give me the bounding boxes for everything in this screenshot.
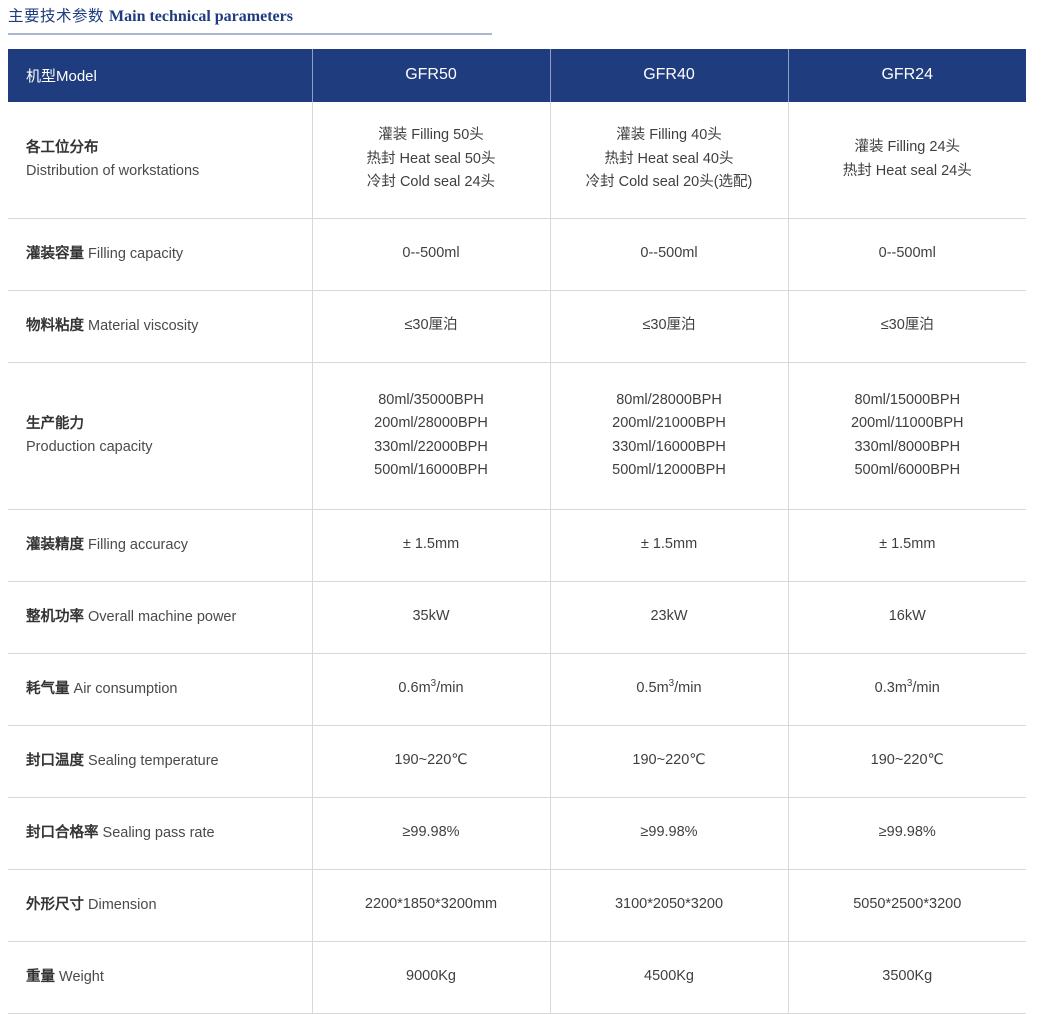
row-label-cn: 灌装精度 xyxy=(26,537,84,553)
table-cell: ≥99.98% xyxy=(550,797,788,869)
cell-line: 330ml/16000BPH xyxy=(561,436,778,459)
table-cell: 灌装 Filling 50头热封 Heat seal 50头冷封 Cold se… xyxy=(312,102,550,219)
cell-line: ≥99.98% xyxy=(323,821,540,844)
cell-line: 200ml/21000BPH xyxy=(561,412,778,435)
table-cell: ± 1.5mm xyxy=(312,509,550,581)
cell-line: 冷封 Cold seal 24头 xyxy=(323,171,540,194)
cell-line: 80ml/35000BPH xyxy=(323,389,540,412)
table-cell: 5050*2500*3200 xyxy=(788,869,1026,941)
cell-line: 3100*2050*3200 xyxy=(561,893,778,916)
column-header-gfr40: GFR40 xyxy=(550,49,788,102)
cell-line: 4500Kg xyxy=(561,965,778,988)
table-cell: 9000Kg xyxy=(312,941,550,1013)
table-cell: 190~220℃ xyxy=(312,725,550,797)
cell-line: 9000Kg xyxy=(323,965,540,988)
table-cell: 0.5m3/min xyxy=(550,653,788,725)
table-cell: 0--500ml xyxy=(788,218,1026,290)
column-header-gfr50: GFR50 xyxy=(312,49,550,102)
row-label: 外形尺寸 Dimension xyxy=(8,869,312,941)
cell-line: 灌装 Filling 24头 xyxy=(799,136,1017,159)
table-row: 生产能力Production capacity80ml/35000BPH200m… xyxy=(8,362,1026,509)
table-cell: 3100*2050*3200 xyxy=(550,869,788,941)
row-label-cn: 生产能力 xyxy=(26,413,294,435)
row-label: 灌装容量 Filling capacity xyxy=(8,218,312,290)
row-label-cn: 灌装容量 xyxy=(26,246,84,262)
column-header-model-label: 机型Model xyxy=(8,49,312,102)
table-cell: ≤30厘泊 xyxy=(312,290,550,362)
cell-line: 330ml/22000BPH xyxy=(323,436,540,459)
cell-line: 190~220℃ xyxy=(561,749,778,772)
row-label-en: Sealing pass rate xyxy=(99,825,215,841)
cell-line: 190~220℃ xyxy=(799,749,1017,772)
cell-line: ≤30厘泊 xyxy=(561,314,778,337)
page-title: 主要技术参数Main technical parameters xyxy=(8,8,492,26)
page-title-block: 主要技术参数Main technical parameters xyxy=(0,0,492,35)
table-cell: ≥99.98% xyxy=(312,797,550,869)
cell-line: ≤30厘泊 xyxy=(323,314,540,337)
row-label-cn: 重量 xyxy=(26,969,55,985)
cell-line: 200ml/28000BPH xyxy=(323,412,540,435)
row-label-en: Dimension xyxy=(84,897,157,913)
table-row: 耗气量 Air consumption0.6m3/min0.5m3/min0.3… xyxy=(8,653,1026,725)
row-label-cn: 耗气量 xyxy=(26,681,70,697)
cell-line: 0--500ml xyxy=(323,242,540,265)
spec-table-wrapper: 机型Model GFR50 GFR40 GFR24 各工位分布Distribut… xyxy=(8,49,1026,1014)
cell-line: 16kW xyxy=(799,605,1017,628)
table-cell: ± 1.5mm xyxy=(788,509,1026,581)
cell-line: 2200*1850*3200mm xyxy=(323,893,540,916)
superscript-3: 3 xyxy=(431,679,436,690)
row-label-cn: 物料粘度 xyxy=(26,318,84,334)
row-label: 耗气量 Air consumption xyxy=(8,653,312,725)
table-row: 灌装容量 Filling capacity0--500ml0--500ml0--… xyxy=(8,218,1026,290)
table-cell: 0.3m3/min xyxy=(788,653,1026,725)
cell-line: 500ml/16000BPH xyxy=(323,459,540,482)
row-label-en: Sealing temperature xyxy=(84,753,219,769)
table-body: 各工位分布Distribution of workstations灌装 Fill… xyxy=(8,102,1026,1014)
superscript-3: 3 xyxy=(669,679,674,690)
cell-line: 80ml/15000BPH xyxy=(799,389,1017,412)
table-cell: 80ml/28000BPH200ml/21000BPH330ml/16000BP… xyxy=(550,362,788,509)
page-title-en: Main technical parameters xyxy=(109,8,293,25)
cell-line: 冷封 Cold seal 20头(选配) xyxy=(561,171,778,194)
row-label-cn: 外形尺寸 xyxy=(26,897,84,913)
cell-line: 0.5m3/min xyxy=(561,677,778,700)
cell-line: 500ml/6000BPH xyxy=(799,459,1017,482)
cell-line: ± 1.5mm xyxy=(323,533,540,556)
table-row: 物料粘度 Material viscosity≤30厘泊≤30厘泊≤30厘泊 xyxy=(8,290,1026,362)
row-label-en: Overall machine power xyxy=(84,609,236,625)
cell-line: 190~220℃ xyxy=(323,749,540,772)
table-cell: 23kW xyxy=(550,581,788,653)
row-label-cn: 各工位分布 xyxy=(26,137,294,159)
table-cell: 4500Kg xyxy=(550,941,788,1013)
cell-line: 灌装 Filling 40头 xyxy=(561,124,778,147)
cell-line: 0--500ml xyxy=(799,242,1017,265)
main-technical-parameters-table: 机型Model GFR50 GFR40 GFR24 各工位分布Distribut… xyxy=(8,49,1026,1014)
row-label: 物料粘度 Material viscosity xyxy=(8,290,312,362)
cell-line: ± 1.5mm xyxy=(799,533,1017,556)
cell-line: 5050*2500*3200 xyxy=(799,893,1017,916)
cell-line: ≥99.98% xyxy=(561,821,778,844)
row-label-en: Production capacity xyxy=(26,436,294,458)
table-cell: 灌装 Filling 40头热封 Heat seal 40头冷封 Cold se… xyxy=(550,102,788,219)
page-title-cn: 主要技术参数 xyxy=(8,8,104,25)
row-label: 整机功率 Overall machine power xyxy=(8,581,312,653)
cell-line: 热封 Heat seal 40头 xyxy=(561,148,778,171)
cell-line: 23kW xyxy=(561,605,778,628)
table-cell: ≤30厘泊 xyxy=(550,290,788,362)
table-cell: 35kW xyxy=(312,581,550,653)
table-cell: 80ml/35000BPH200ml/28000BPH330ml/22000BP… xyxy=(312,362,550,509)
table-cell: 80ml/15000BPH200ml/11000BPH330ml/8000BPH… xyxy=(788,362,1026,509)
row-label: 封口合格率 Sealing pass rate xyxy=(8,797,312,869)
table-cell: 0--500ml xyxy=(312,218,550,290)
table-header: 机型Model GFR50 GFR40 GFR24 xyxy=(8,49,1026,102)
table-row: 封口温度 Sealing temperature190~220℃190~220℃… xyxy=(8,725,1026,797)
superscript-3: 3 xyxy=(907,679,912,690)
cell-line: 热封 Heat seal 50头 xyxy=(323,148,540,171)
row-label-cn: 封口合格率 xyxy=(26,825,99,841)
row-label-en: Weight xyxy=(55,969,104,985)
cell-line: 330ml/8000BPH xyxy=(799,436,1017,459)
row-label-en: Air consumption xyxy=(70,681,178,697)
table-cell: 190~220℃ xyxy=(788,725,1026,797)
table-row: 重量 Weight9000Kg4500Kg3500Kg xyxy=(8,941,1026,1013)
table-cell: 190~220℃ xyxy=(550,725,788,797)
table-cell: 0--500ml xyxy=(550,218,788,290)
cell-line: 3500Kg xyxy=(799,965,1017,988)
cell-line: 500ml/12000BPH xyxy=(561,459,778,482)
table-row: 各工位分布Distribution of workstations灌装 Fill… xyxy=(8,102,1026,219)
table-cell: 16kW xyxy=(788,581,1026,653)
cell-line: ≤30厘泊 xyxy=(799,314,1017,337)
column-header-gfr24: GFR24 xyxy=(788,49,1026,102)
row-label: 重量 Weight xyxy=(8,941,312,1013)
table-row: 整机功率 Overall machine power35kW23kW16kW xyxy=(8,581,1026,653)
row-label: 灌装精度 Filling accuracy xyxy=(8,509,312,581)
table-row: 封口合格率 Sealing pass rate≥99.98%≥99.98%≥99… xyxy=(8,797,1026,869)
table-cell: ± 1.5mm xyxy=(550,509,788,581)
table-cell: 灌装 Filling 24头热封 Heat seal 24头 xyxy=(788,102,1026,219)
cell-line: ≥99.98% xyxy=(799,821,1017,844)
cell-line: 0.3m3/min xyxy=(799,677,1017,700)
cell-line: 35kW xyxy=(323,605,540,628)
cell-line: ± 1.5mm xyxy=(561,533,778,556)
row-label-en: Distribution of workstations xyxy=(26,160,294,182)
row-label: 各工位分布Distribution of workstations xyxy=(8,102,312,219)
table-cell: 0.6m3/min xyxy=(312,653,550,725)
cell-line: 80ml/28000BPH xyxy=(561,389,778,412)
table-row: 外形尺寸 Dimension2200*1850*3200mm3100*2050*… xyxy=(8,869,1026,941)
row-label: 生产能力Production capacity xyxy=(8,362,312,509)
cell-line: 0--500ml xyxy=(561,242,778,265)
cell-line: 热封 Heat seal 24头 xyxy=(799,160,1017,183)
table-cell: ≤30厘泊 xyxy=(788,290,1026,362)
cell-line: 0.6m3/min xyxy=(323,677,540,700)
row-label-en: Filling accuracy xyxy=(84,537,188,553)
row-label: 封口温度 Sealing temperature xyxy=(8,725,312,797)
table-row: 灌装精度 Filling accuracy± 1.5mm± 1.5mm± 1.5… xyxy=(8,509,1026,581)
table-cell: ≥99.98% xyxy=(788,797,1026,869)
cell-line: 200ml/11000BPH xyxy=(799,412,1017,435)
cell-line: 灌装 Filling 50头 xyxy=(323,124,540,147)
row-label-en: Material viscosity xyxy=(84,318,198,334)
title-underline xyxy=(8,33,492,35)
row-label-cn: 封口温度 xyxy=(26,753,84,769)
table-cell: 3500Kg xyxy=(788,941,1026,1013)
row-label-cn: 整机功率 xyxy=(26,609,84,625)
table-header-row: 机型Model GFR50 GFR40 GFR24 xyxy=(8,49,1026,102)
table-cell: 2200*1850*3200mm xyxy=(312,869,550,941)
row-label-en: Filling capacity xyxy=(84,246,183,262)
